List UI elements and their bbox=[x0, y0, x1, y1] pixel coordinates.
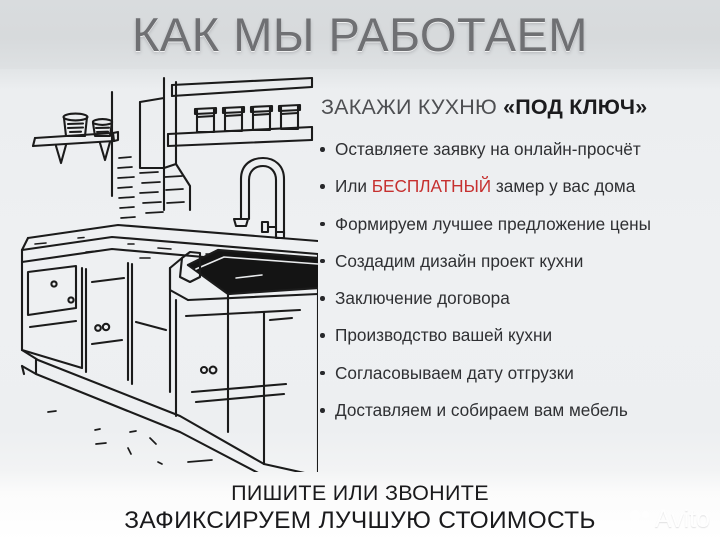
avito-watermark: Avito bbox=[628, 507, 710, 532]
kitchen-illustration bbox=[0, 72, 318, 472]
list-item: Заключение договора bbox=[316, 287, 716, 309]
backsplash-hatch bbox=[118, 157, 184, 218]
order-heading-emphasis: «ПОД КЛЮЧ» bbox=[503, 95, 647, 119]
cabinet-line-1 bbox=[30, 321, 76, 327]
cabinet-knob-4 bbox=[103, 324, 109, 330]
shelf-bracket-right bbox=[100, 142, 110, 160]
cabinet-shelf-line bbox=[92, 278, 124, 282]
countertop-front-edge bbox=[22, 237, 318, 254]
bullet-icon bbox=[320, 259, 325, 264]
step-text-accent: БЕСПЛАТНЫЙ bbox=[372, 176, 491, 196]
list-item: Согласовываем дату отгрузки bbox=[316, 362, 716, 384]
step-text-pre: Доставляем и собираем вам мебель bbox=[335, 400, 628, 420]
list-item: Формируем лучшее предложение цены bbox=[316, 213, 716, 235]
step-text-pre: Создадим дизайн проект кухни bbox=[335, 251, 583, 271]
footer-line-1: ПИШИТЕ ИЛИ ЗВОНИТЕ bbox=[0, 480, 720, 506]
list-item: Оставляете заявку на онлайн-просчёт bbox=[316, 138, 716, 160]
step-text-post: замер у вас дома bbox=[491, 176, 635, 196]
step-text-pre: Оставляете заявку на онлайн-просчёт bbox=[335, 139, 641, 159]
footer-line-2: ЗАФИКСИРУЕМ ЛУЧШУЮ СТОИМОСТЬ bbox=[0, 506, 720, 535]
order-heading: ЗАКАЖИ КУХНЮ «ПОД КЛЮЧ» bbox=[316, 92, 716, 122]
cabinet-curve-1 bbox=[136, 322, 166, 330]
cabinet-knob-2 bbox=[68, 297, 73, 302]
cabinet-door-1 bbox=[28, 266, 76, 315]
cabinet-box-outline bbox=[140, 102, 164, 168]
step-text-pre: Производство вашей кухни bbox=[335, 325, 552, 345]
poster-canvas: КАК МЫ РАБОТАЕМ bbox=[0, 0, 720, 540]
upper-shelf-top-edge-2 bbox=[172, 87, 312, 96]
footer-block: ПИШИТЕ ИЛИ ЗВОНИТЕ ЗАФИКСИРУЕМ ЛУЧШУЮ СТ… bbox=[0, 480, 720, 535]
list-item: Или БЕСПЛАТНЫЙ замер у вас дома bbox=[316, 175, 716, 197]
bullet-icon bbox=[320, 371, 325, 376]
cabinet-top-line bbox=[188, 294, 318, 300]
order-heading-plain: ЗАКАЖИ КУХНЮ bbox=[321, 95, 503, 119]
bullet-icon bbox=[320, 184, 325, 189]
list-item: Создадим дизайн проект кухни bbox=[316, 250, 716, 272]
bullet-icon bbox=[320, 333, 325, 338]
bullet-icon bbox=[320, 222, 325, 227]
avito-logo-icon bbox=[628, 509, 652, 531]
list-item: Производство вашей кухни bbox=[316, 324, 716, 346]
cabinet-knob-5 bbox=[201, 367, 207, 373]
step-text-pre: Согласовываем дату отгрузки bbox=[335, 363, 574, 383]
step-text-pre: Заключение договора bbox=[335, 288, 510, 308]
cabinet-knob-6 bbox=[210, 367, 217, 374]
sink-left-panel bbox=[170, 268, 188, 300]
step-text-pre: Формируем лучшее предложение цены bbox=[335, 214, 651, 234]
cabinet-panel-line-1 bbox=[186, 310, 300, 316]
bullet-icon bbox=[320, 296, 325, 301]
shelf-bracket-left bbox=[56, 145, 66, 163]
faucet-lever bbox=[262, 222, 268, 232]
step-text-pre: Или bbox=[335, 176, 372, 196]
list-item: Доставляем и собираем вам мебель bbox=[316, 399, 716, 421]
sink-basin bbox=[188, 250, 318, 294]
steps-list: Оставляете заявку на онлайн-просчёт Или … bbox=[316, 138, 716, 421]
cabinet-panel-line-2 bbox=[192, 384, 286, 392]
upper-shelf-top-edge bbox=[172, 78, 312, 85]
cabinet-knob-3 bbox=[95, 325, 101, 331]
content-column: ЗАКАЖИ КУХНЮ «ПОД КЛЮЧ» Оставляете заявк… bbox=[316, 92, 716, 436]
left-shelf-front bbox=[33, 141, 114, 146]
page-title: КАК МЫ РАБОТАЕМ bbox=[0, 6, 720, 64]
faucet-group bbox=[234, 158, 284, 238]
bullet-icon bbox=[320, 408, 325, 413]
bullet-icon bbox=[320, 147, 325, 152]
faucet-spout-head bbox=[234, 219, 248, 226]
avito-watermark-text: Avito bbox=[655, 507, 710, 532]
cabinet-knob-1 bbox=[51, 281, 56, 286]
upper-shelf-board-bottom bbox=[168, 140, 312, 146]
